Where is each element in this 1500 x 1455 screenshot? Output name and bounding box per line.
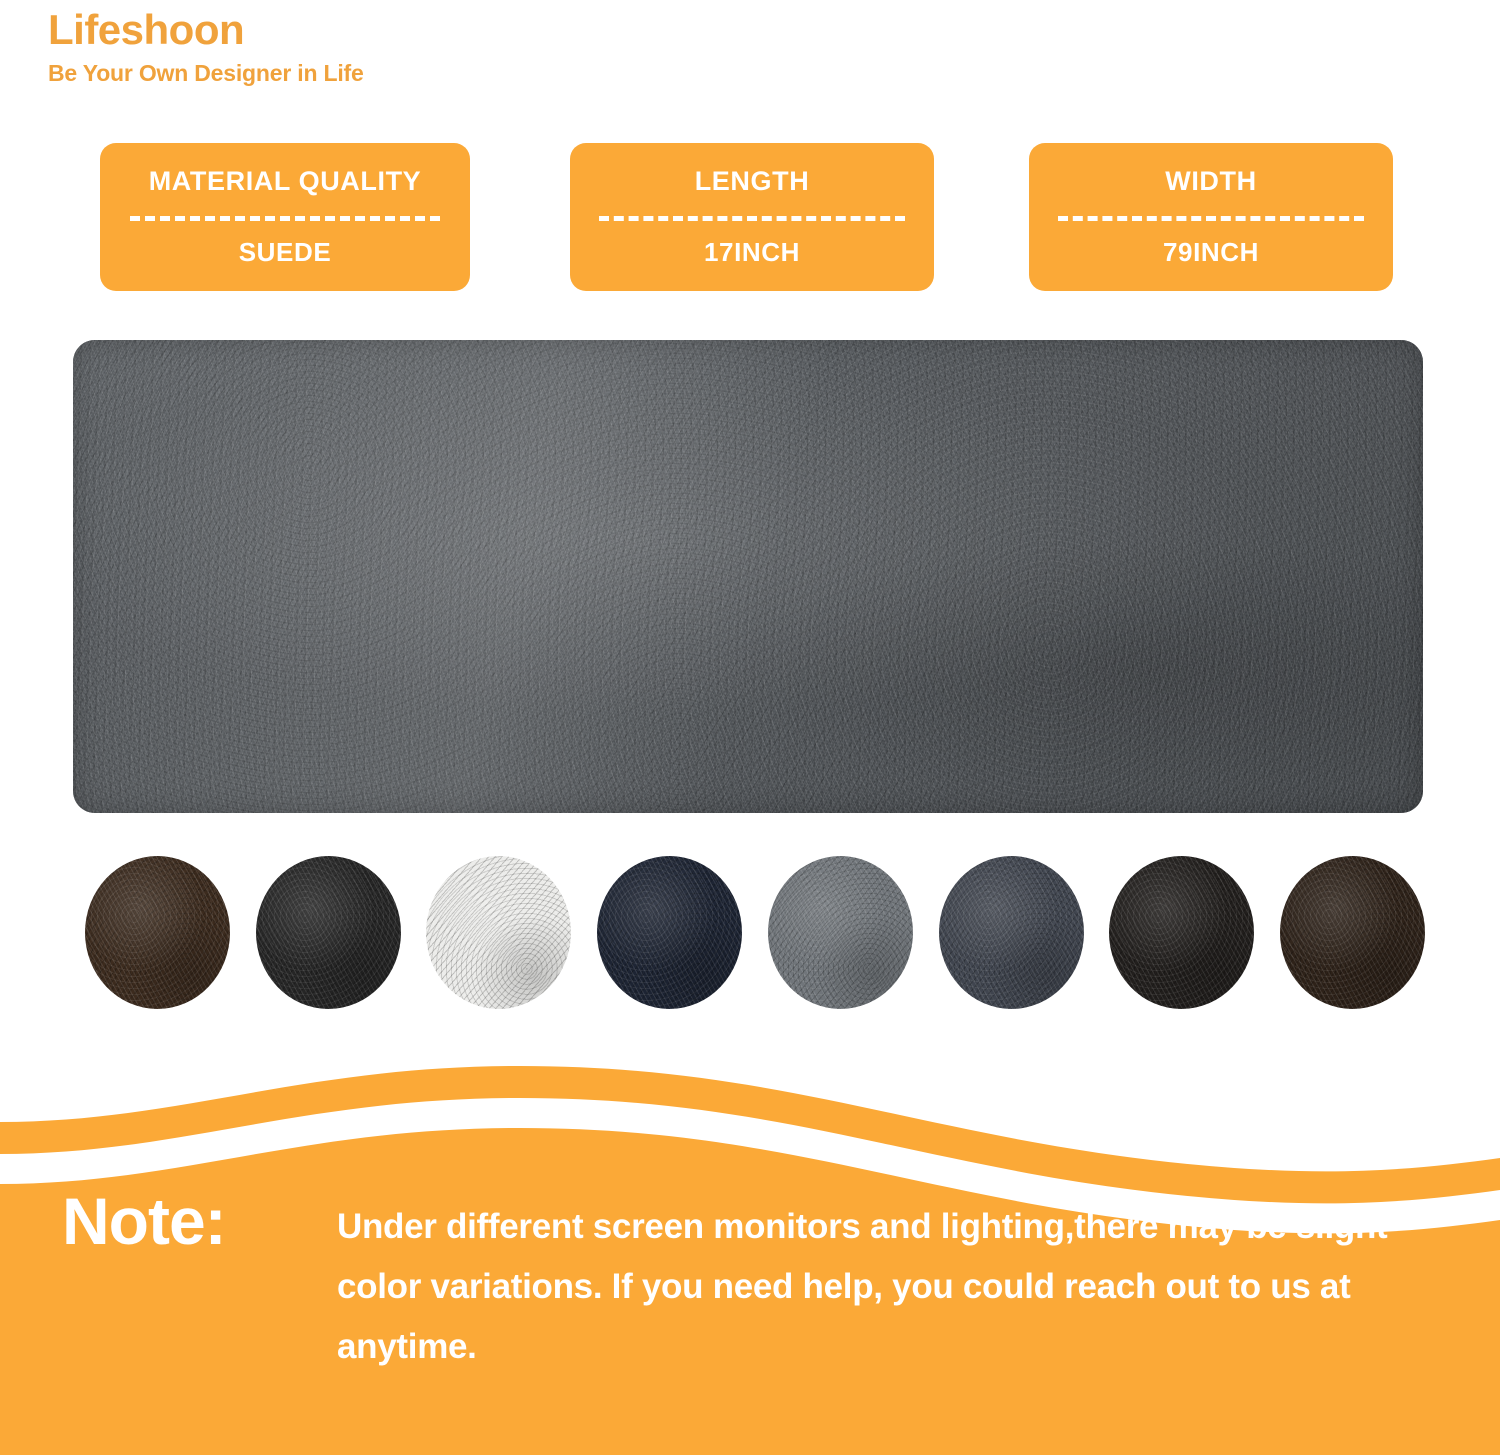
note-body-text: Under different screen monitors and ligh… (337, 1197, 1457, 1378)
swatch-shading (939, 856, 1084, 1009)
product-infographic: Lifeshoon Be Your Own Designer in Life M… (0, 0, 1500, 1455)
swatch-shading (597, 856, 742, 1009)
spec-badge-label: WIDTH (1165, 166, 1256, 197)
spec-badge-divider (599, 216, 905, 221)
spec-badge-row: MATERIAL QUALITY SUEDE LENGTH 17INCH WID… (0, 143, 1500, 291)
spec-badge-divider (130, 216, 441, 221)
color-swatch-dark-brown[interactable] (85, 856, 230, 1009)
color-swatch-coffee-brown[interactable] (1280, 856, 1425, 1009)
spec-badge-value: 17INCH (704, 238, 800, 268)
swatch-shading (256, 856, 401, 1009)
swatch-shading (1109, 856, 1254, 1009)
note-label: Note: (62, 1188, 226, 1254)
spec-badge-length: LENGTH 17INCH (570, 143, 934, 291)
note-section: Note: Under different screen monitors an… (0, 1060, 1500, 1455)
color-swatch-medium-grey[interactable] (768, 856, 913, 1009)
color-swatch-black[interactable] (256, 856, 401, 1009)
spec-badge-value: SUEDE (239, 238, 332, 268)
color-swatch-navy-blue[interactable] (597, 856, 742, 1009)
spec-badge-width: WIDTH 79INCH (1029, 143, 1393, 291)
swatch-shading (426, 856, 571, 1009)
color-swatch-row (85, 855, 1425, 1010)
color-swatch-slate-grey[interactable] (939, 856, 1084, 1009)
note-content: Note: Under different screen monitors an… (0, 1060, 1500, 1455)
spec-badge-label: LENGTH (695, 166, 810, 197)
spec-badge-material-quality: MATERIAL QUALITY SUEDE (100, 143, 470, 291)
brand-name: Lifeshoon (48, 8, 748, 52)
rug-edge-shadow (73, 340, 1423, 813)
brand-tagline: Be Your Own Designer in Life (48, 61, 748, 86)
brand-header: Lifeshoon Be Your Own Designer in Life (48, 8, 748, 86)
swatch-shading (768, 856, 913, 1009)
color-swatch-charcoal-black[interactable] (1109, 856, 1254, 1009)
swatch-shading (1280, 856, 1425, 1009)
color-swatch-cream-white[interactable] (426, 856, 571, 1009)
swatch-shading (85, 856, 230, 1009)
spec-badge-label: MATERIAL QUALITY (149, 166, 422, 197)
spec-badge-value: 79INCH (1163, 238, 1259, 268)
spec-badge-divider (1058, 216, 1364, 221)
product-image-rug (73, 340, 1423, 813)
